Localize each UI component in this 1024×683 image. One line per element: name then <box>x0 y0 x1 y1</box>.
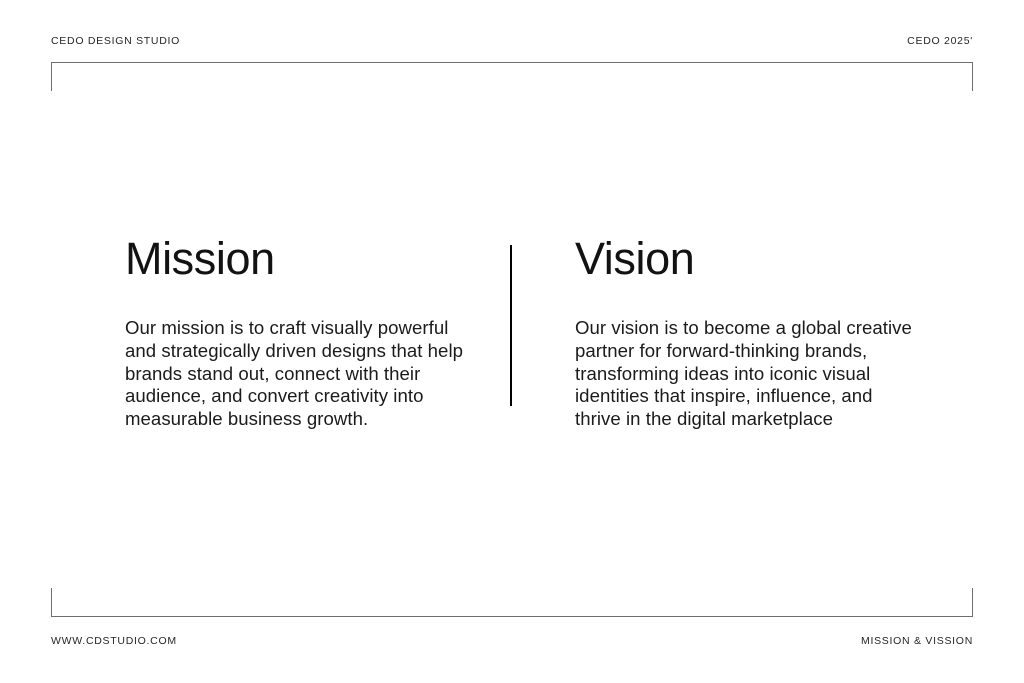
mission-body-text: Our mission is to craft visually powerfu… <box>125 317 471 431</box>
vision-heading: Vision <box>575 236 914 281</box>
vision-body-text: Our vision is to become a global creativ… <box>575 317 914 431</box>
bottom-right-bracket-tick <box>972 588 973 617</box>
column-divider <box>510 245 512 406</box>
bottom-frame-rule <box>51 616 973 617</box>
header-year-label: CEDO 2025' <box>907 36 973 47</box>
mission-column: Mission Our mission is to craft visually… <box>0 236 511 431</box>
content-columns: Mission Our mission is to craft visually… <box>0 236 1024 431</box>
footer-section-label: MISSION & VISSION <box>861 636 973 647</box>
top-right-bracket-tick <box>972 62 973 91</box>
top-frame-rule <box>51 62 973 63</box>
vision-column: Vision Our vision is to become a global … <box>511 236 1024 431</box>
top-left-bracket-tick <box>51 62 52 91</box>
header-brand-label: CEDO DESIGN STUDIO <box>51 36 180 47</box>
slide-canvas: CEDO DESIGN STUDIO CEDO 2025' Mission Ou… <box>0 0 1024 683</box>
bottom-left-bracket-tick <box>51 588 52 617</box>
footer-website-label: WWW.CDSTUDIO.COM <box>51 636 177 647</box>
mission-heading: Mission <box>125 236 471 281</box>
